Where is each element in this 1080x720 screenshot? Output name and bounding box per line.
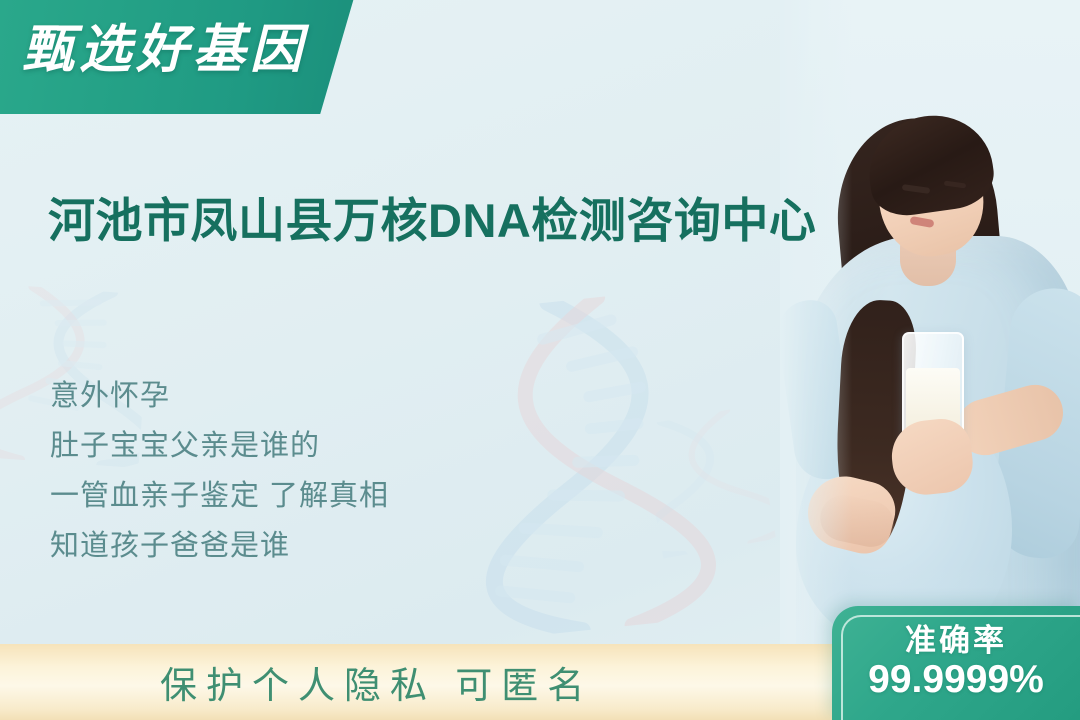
page-title: 河池市凤山县万核DNA检测咨询中心	[48, 191, 838, 251]
marketing-copy-list: 意外怀孕 肚子宝宝父亲是谁的 一管血亲子鉴定 了解真相 知道孩子爸爸是谁	[50, 372, 650, 572]
accuracy-badge: 准确率 99.9999%	[832, 606, 1080, 720]
brand-logo-banner: 甄选好基因	[0, 0, 358, 114]
copy-line: 一管血亲子鉴定 了解真相	[50, 472, 650, 522]
accuracy-label: 准确率	[905, 624, 1007, 657]
accuracy-value: 99.9999%	[868, 658, 1044, 702]
copy-line: 意外怀孕	[50, 372, 650, 422]
copy-line: 知道孩子爸爸是谁	[50, 522, 650, 572]
promo-poster: 甄选好基因 河池市凤山县万核DNA检测咨询中心 意外怀孕 肚子宝宝父亲是谁的 一…	[0, 0, 1080, 720]
copy-line: 肚子宝宝父亲是谁的	[50, 422, 650, 472]
privacy-text: 保护个人隐私 可匿名	[160, 655, 593, 709]
dna-helix-icon	[640, 405, 776, 558]
brand-logo-text: 甄选好基因	[22, 7, 307, 82]
